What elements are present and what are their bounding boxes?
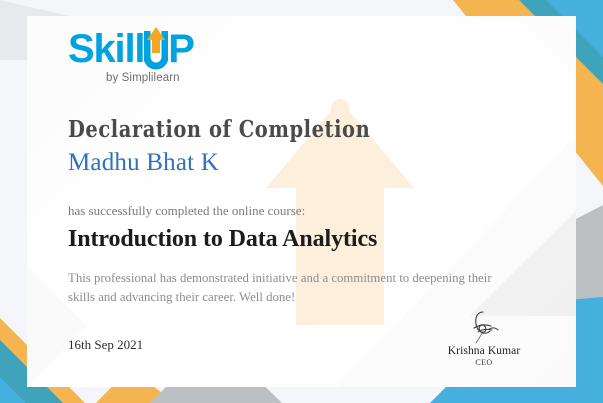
logo-up-arrow-icon xyxy=(144,27,168,71)
signature-block: Krishna Kumar CEO xyxy=(432,310,536,367)
logo-tagline: by Simplilearn xyxy=(106,72,194,84)
signer-role: CEO xyxy=(432,358,536,367)
logo-text-p: P xyxy=(168,27,193,71)
logo-wordmark: SkillP xyxy=(68,27,194,71)
certificate: SkillP by Simplilearn Declaration of Com… xyxy=(0,0,603,403)
logo-text-skill: Skill xyxy=(68,27,144,71)
completion-line: has successfully completed the online co… xyxy=(68,203,305,219)
issue-date: 16th Sep 2021 xyxy=(68,337,143,353)
signature-mark-icon xyxy=(432,310,536,344)
recipient-name: Madhu Bhat K xyxy=(68,149,219,177)
course-title: Introduction to Data Analytics xyxy=(68,226,377,253)
signer-name: Krishna Kumar xyxy=(432,345,536,357)
body-text: This professional has demonstrated initi… xyxy=(68,269,500,307)
brand-logo: SkillP by Simplilearn xyxy=(68,27,194,84)
certificate-content: SkillP by Simplilearn Declaration of Com… xyxy=(0,0,603,403)
declaration-heading: Declaration of Completion xyxy=(68,116,370,143)
